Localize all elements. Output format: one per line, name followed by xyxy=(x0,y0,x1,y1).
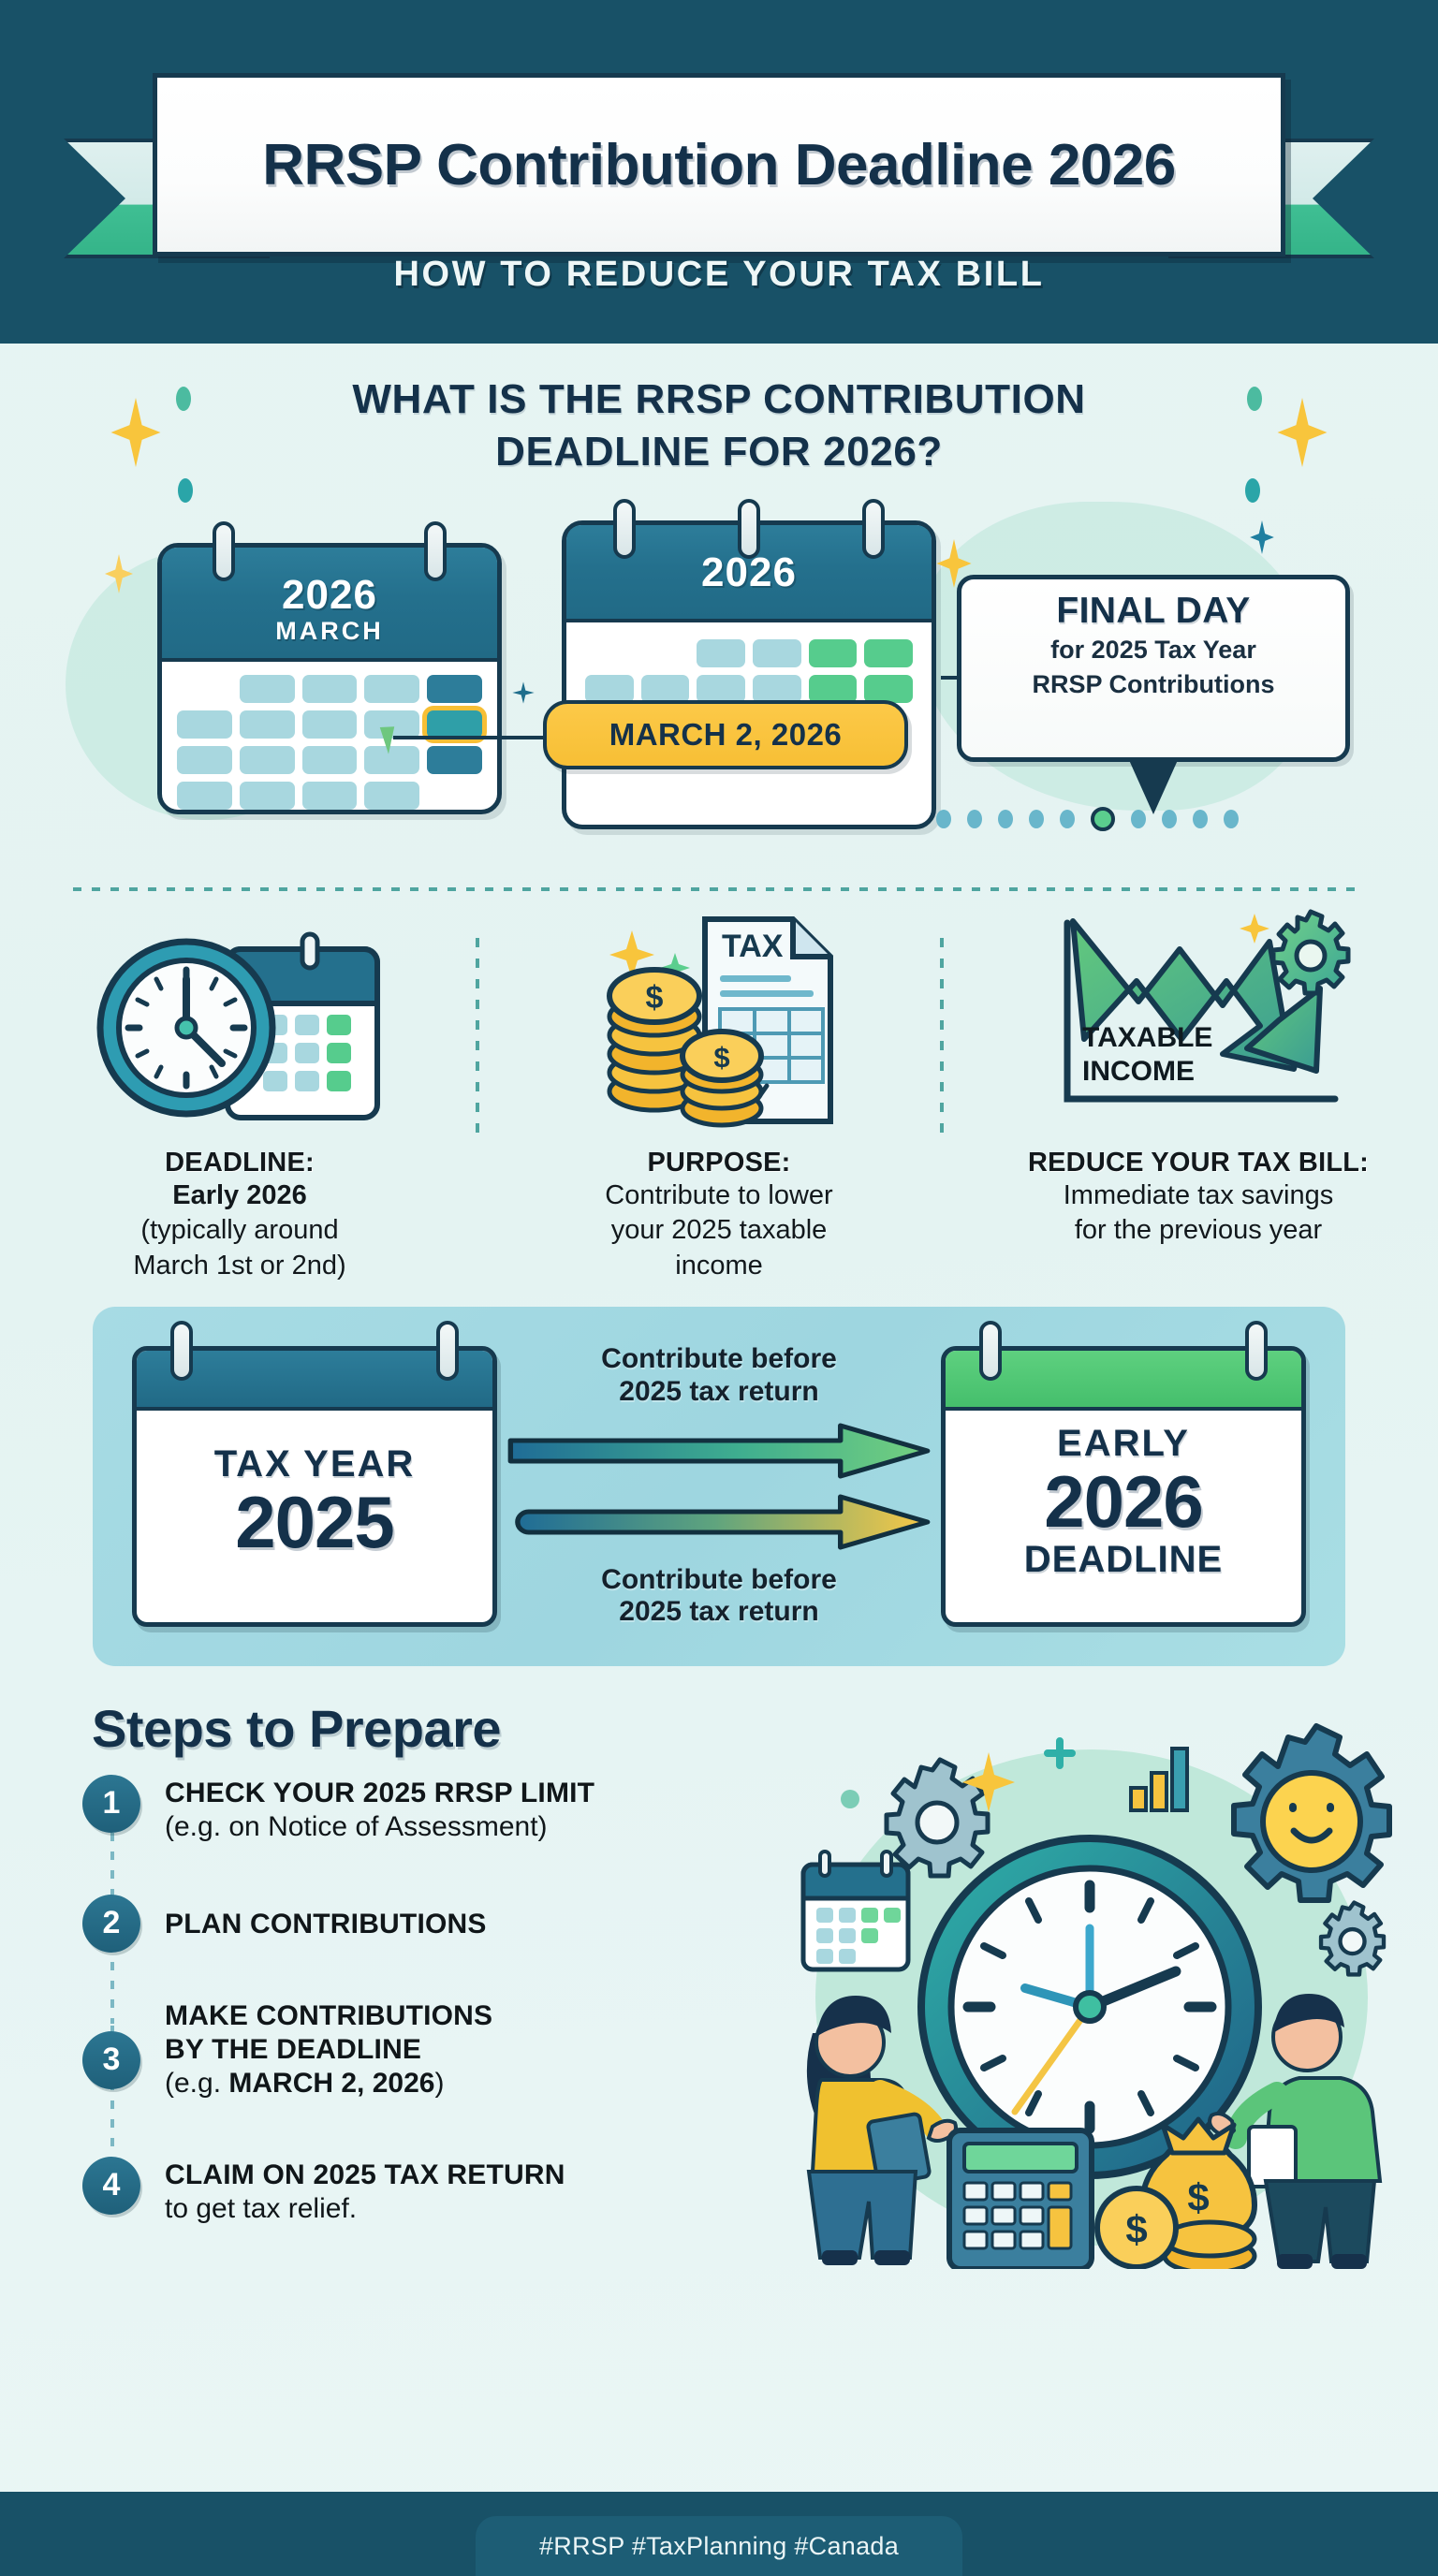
steps-title: Steps to Prepare xyxy=(92,1698,501,1759)
calendar-ring xyxy=(436,1321,459,1381)
calendar-ring xyxy=(862,499,885,559)
taxable-label-line-2: INCOME xyxy=(1082,1056,1195,1087)
arrow-yellow xyxy=(506,1493,932,1551)
step-3-sub-post: ) xyxy=(434,2068,444,2099)
step-2-title: PLAN CONTRIBUTIONS xyxy=(165,1908,487,1941)
tax-year-comparison-panel: TAX YEAR 2025 Contribute before 2025 tax… xyxy=(93,1307,1345,1666)
dot-decor xyxy=(1247,387,1262,411)
svg-text:$: $ xyxy=(1187,2175,1209,2219)
step-1-sub: (e.g. on Notice of Assessment) xyxy=(165,1810,594,1844)
calendar-march-2026: 2026 MARCH xyxy=(157,543,502,814)
mini-calendar-icon xyxy=(803,1851,908,1969)
gear-icon xyxy=(887,1760,988,1876)
column-3-sub-2: for the previous year xyxy=(970,1213,1427,1249)
step-3-sub-pre: (e.g. xyxy=(165,2068,228,2099)
calendar-ring xyxy=(213,521,235,581)
svg-text:$: $ xyxy=(646,980,664,1016)
sparkle-icon xyxy=(105,554,133,593)
step-number: 4 xyxy=(82,2157,140,2215)
page-title: RRSP Contribution Deadline 2026 xyxy=(262,132,1176,198)
column-2-sub-2: your 2025 taxable xyxy=(491,1213,947,1249)
callout-line-2: RRSP Contributions xyxy=(978,668,1328,700)
calendar-row: 2026 MARCH xyxy=(0,492,1438,867)
arrow-top-label-1: Contribute before xyxy=(506,1343,932,1376)
section-divider xyxy=(73,887,1365,891)
step-item-4[interactable]: 4 CLAIM ON 2025 TAX RETURN to get tax re… xyxy=(82,2157,565,2226)
calendar-ring xyxy=(979,1321,1002,1381)
timeline-dot-active xyxy=(1091,807,1115,831)
step-item-1[interactable]: 1 CHECK YOUR 2025 RRSP LIMIT (e.g. on No… xyxy=(82,1775,594,1844)
column-1-title: DEADLINE: xyxy=(11,1148,468,1178)
taxable-label-line-1: TAXABLE xyxy=(1082,1022,1212,1053)
ribbon: RRSP Contribution Deadline 2026 xyxy=(0,73,1438,270)
callout-line-1: for 2025 Tax Year xyxy=(978,634,1328,666)
svg-text:$: $ xyxy=(713,1041,729,1074)
column-3-sub-1: Immediate tax savings xyxy=(970,1178,1427,1214)
highlighted-day-cell xyxy=(427,710,482,739)
callout-headline: FINAL DAY xyxy=(978,593,1328,631)
compare-arrows: Contribute before 2025 tax return xyxy=(497,1343,941,1629)
step-number: 3 xyxy=(82,2031,140,2089)
step-4-title: CLAIM ON 2025 TAX RETURN xyxy=(165,2159,565,2192)
dot-decor xyxy=(176,387,191,411)
section-question: WHAT IS THE RRSP CONTRIBUTION DEADLINE F… xyxy=(0,373,1438,479)
calendar-ring xyxy=(1245,1321,1268,1381)
sparkle-icon xyxy=(110,398,161,467)
calendar-year: 2026 xyxy=(162,572,497,619)
step-4-sub: to get tax relief. xyxy=(165,2192,565,2226)
smiley-gear-icon xyxy=(1234,1726,1389,1900)
column-deadline: DEADLINE: Early 2026 (typically around M… xyxy=(0,900,479,1284)
clock-calendar-icon xyxy=(11,900,468,1133)
step-number: 2 xyxy=(82,1895,140,1953)
footer-hashtags: #RRSP #TaxPlanning #Canada xyxy=(476,2516,962,2576)
arrow-top-label-2: 2025 tax return xyxy=(506,1376,932,1409)
calendar-early-2026-deadline: EARLY 2026 DEADLINE xyxy=(941,1346,1306,1627)
svg-text:$: $ xyxy=(1125,2207,1147,2251)
timeline-dots xyxy=(936,807,1239,831)
question-line-1: WHAT IS THE RRSP CONTRIBUTION xyxy=(0,373,1438,426)
column-1-sub-2: March 1st or 2nd) xyxy=(11,1249,468,1284)
downward-arrow-gear-icon: TAXABLE INCOME xyxy=(970,900,1427,1133)
footer-band: #RRSP #TaxPlanning #Canada xyxy=(0,2492,1438,2576)
coins-tax-document-icon: TAX xyxy=(491,900,947,1133)
page-subtitle: HOW TO REDUCE YOUR TAX BILL xyxy=(0,255,1438,295)
compare-right-line-3: DEADLINE xyxy=(1024,1539,1223,1581)
three-feature-columns: DEADLINE: Early 2026 (typically around M… xyxy=(0,900,1438,1284)
column-purpose: TAX xyxy=(479,900,959,1284)
calendar-2026: 2026 xyxy=(562,520,936,829)
column-1-strong: Early 2026 xyxy=(11,1178,468,1214)
final-day-callout: FINAL DAY for 2025 Tax Year RRSP Contrib… xyxy=(957,575,1350,762)
column-2-sub-1: Contribute to lower xyxy=(491,1178,947,1214)
arrow-bottom-label-1: Contribute before xyxy=(506,1564,932,1597)
calculator-icon xyxy=(949,2130,1092,2269)
sparkle-icon xyxy=(1277,398,1328,467)
clock-people-illustration: $ $ xyxy=(764,1707,1419,2269)
sparkle-icon xyxy=(1250,520,1274,554)
step-3-title-line-2: BY THE DEADLINE xyxy=(165,2033,492,2067)
column-3-title: REDUCE YOUR TAX BILL: xyxy=(970,1148,1427,1178)
sparkle-icon xyxy=(936,539,972,588)
calendar-month: MARCH xyxy=(162,617,497,646)
step-item-3[interactable]: 3 MAKE CONTRIBUTIONS BY THE DEADLINE (e.… xyxy=(82,1998,492,2100)
steps-section: Steps to Prepare 1 CHECK YOUR 2025 RRSP … xyxy=(0,1690,1438,2271)
calendar-ring xyxy=(170,1321,193,1381)
column-1-sub-1: (typically around xyxy=(11,1213,468,1249)
title-plate: RRSP Contribution Deadline 2026 xyxy=(153,73,1285,256)
step-3-title-line-1: MAKE CONTRIBUTIONS xyxy=(165,1999,492,2033)
arrow-green xyxy=(506,1422,932,1480)
plus-decor-icon xyxy=(510,680,536,706)
arrow-bottom-label-2: 2025 tax return xyxy=(506,1596,932,1629)
calendar-ring xyxy=(613,499,636,559)
column-2-sub-3: income xyxy=(491,1249,947,1284)
compare-left-line-2: 2025 xyxy=(235,1486,394,1560)
large-clock-icon xyxy=(921,1838,1258,2175)
compare-right-line-2: 2026 xyxy=(1044,1465,1203,1540)
calendar-tax-year-2025: TAX YEAR 2025 xyxy=(132,1346,497,1627)
compare-left-line-1: TAX YEAR xyxy=(214,1443,416,1486)
compare-right-line-1: EARLY xyxy=(1057,1423,1190,1465)
column-2-title: PURPOSE: xyxy=(491,1148,947,1178)
step-item-2[interactable]: 2 PLAN CONTRIBUTIONS xyxy=(82,1895,487,1953)
step-3-sub: (e.g. MARCH 2, 2026) xyxy=(165,2067,492,2100)
column-reduce-tax-bill: TAXABLE INCOME REDUCE YOUR TAX BILL: Imm… xyxy=(959,900,1438,1284)
step-number: 1 xyxy=(82,1775,140,1833)
calendar-ring xyxy=(424,521,447,581)
tax-doc-label: TAX xyxy=(722,929,784,964)
header-banner: RRSP Contribution Deadline 2026 HOW TO R… xyxy=(0,0,1438,344)
calendar-day-grid xyxy=(162,662,497,823)
calendar-ring xyxy=(738,499,760,559)
deadline-date-pill: MARCH 2, 2026 xyxy=(543,700,908,769)
step-1-title: CHECK YOUR 2025 RRSP LIMIT xyxy=(165,1777,594,1810)
step-3-sub-strong: MARCH 2, 2026 xyxy=(228,2068,434,2099)
question-line-2: DEADLINE FOR 2026? xyxy=(495,426,943,478)
infographic-page: RRSP Contribution Deadline 2026 HOW TO R… xyxy=(0,0,1438,2576)
